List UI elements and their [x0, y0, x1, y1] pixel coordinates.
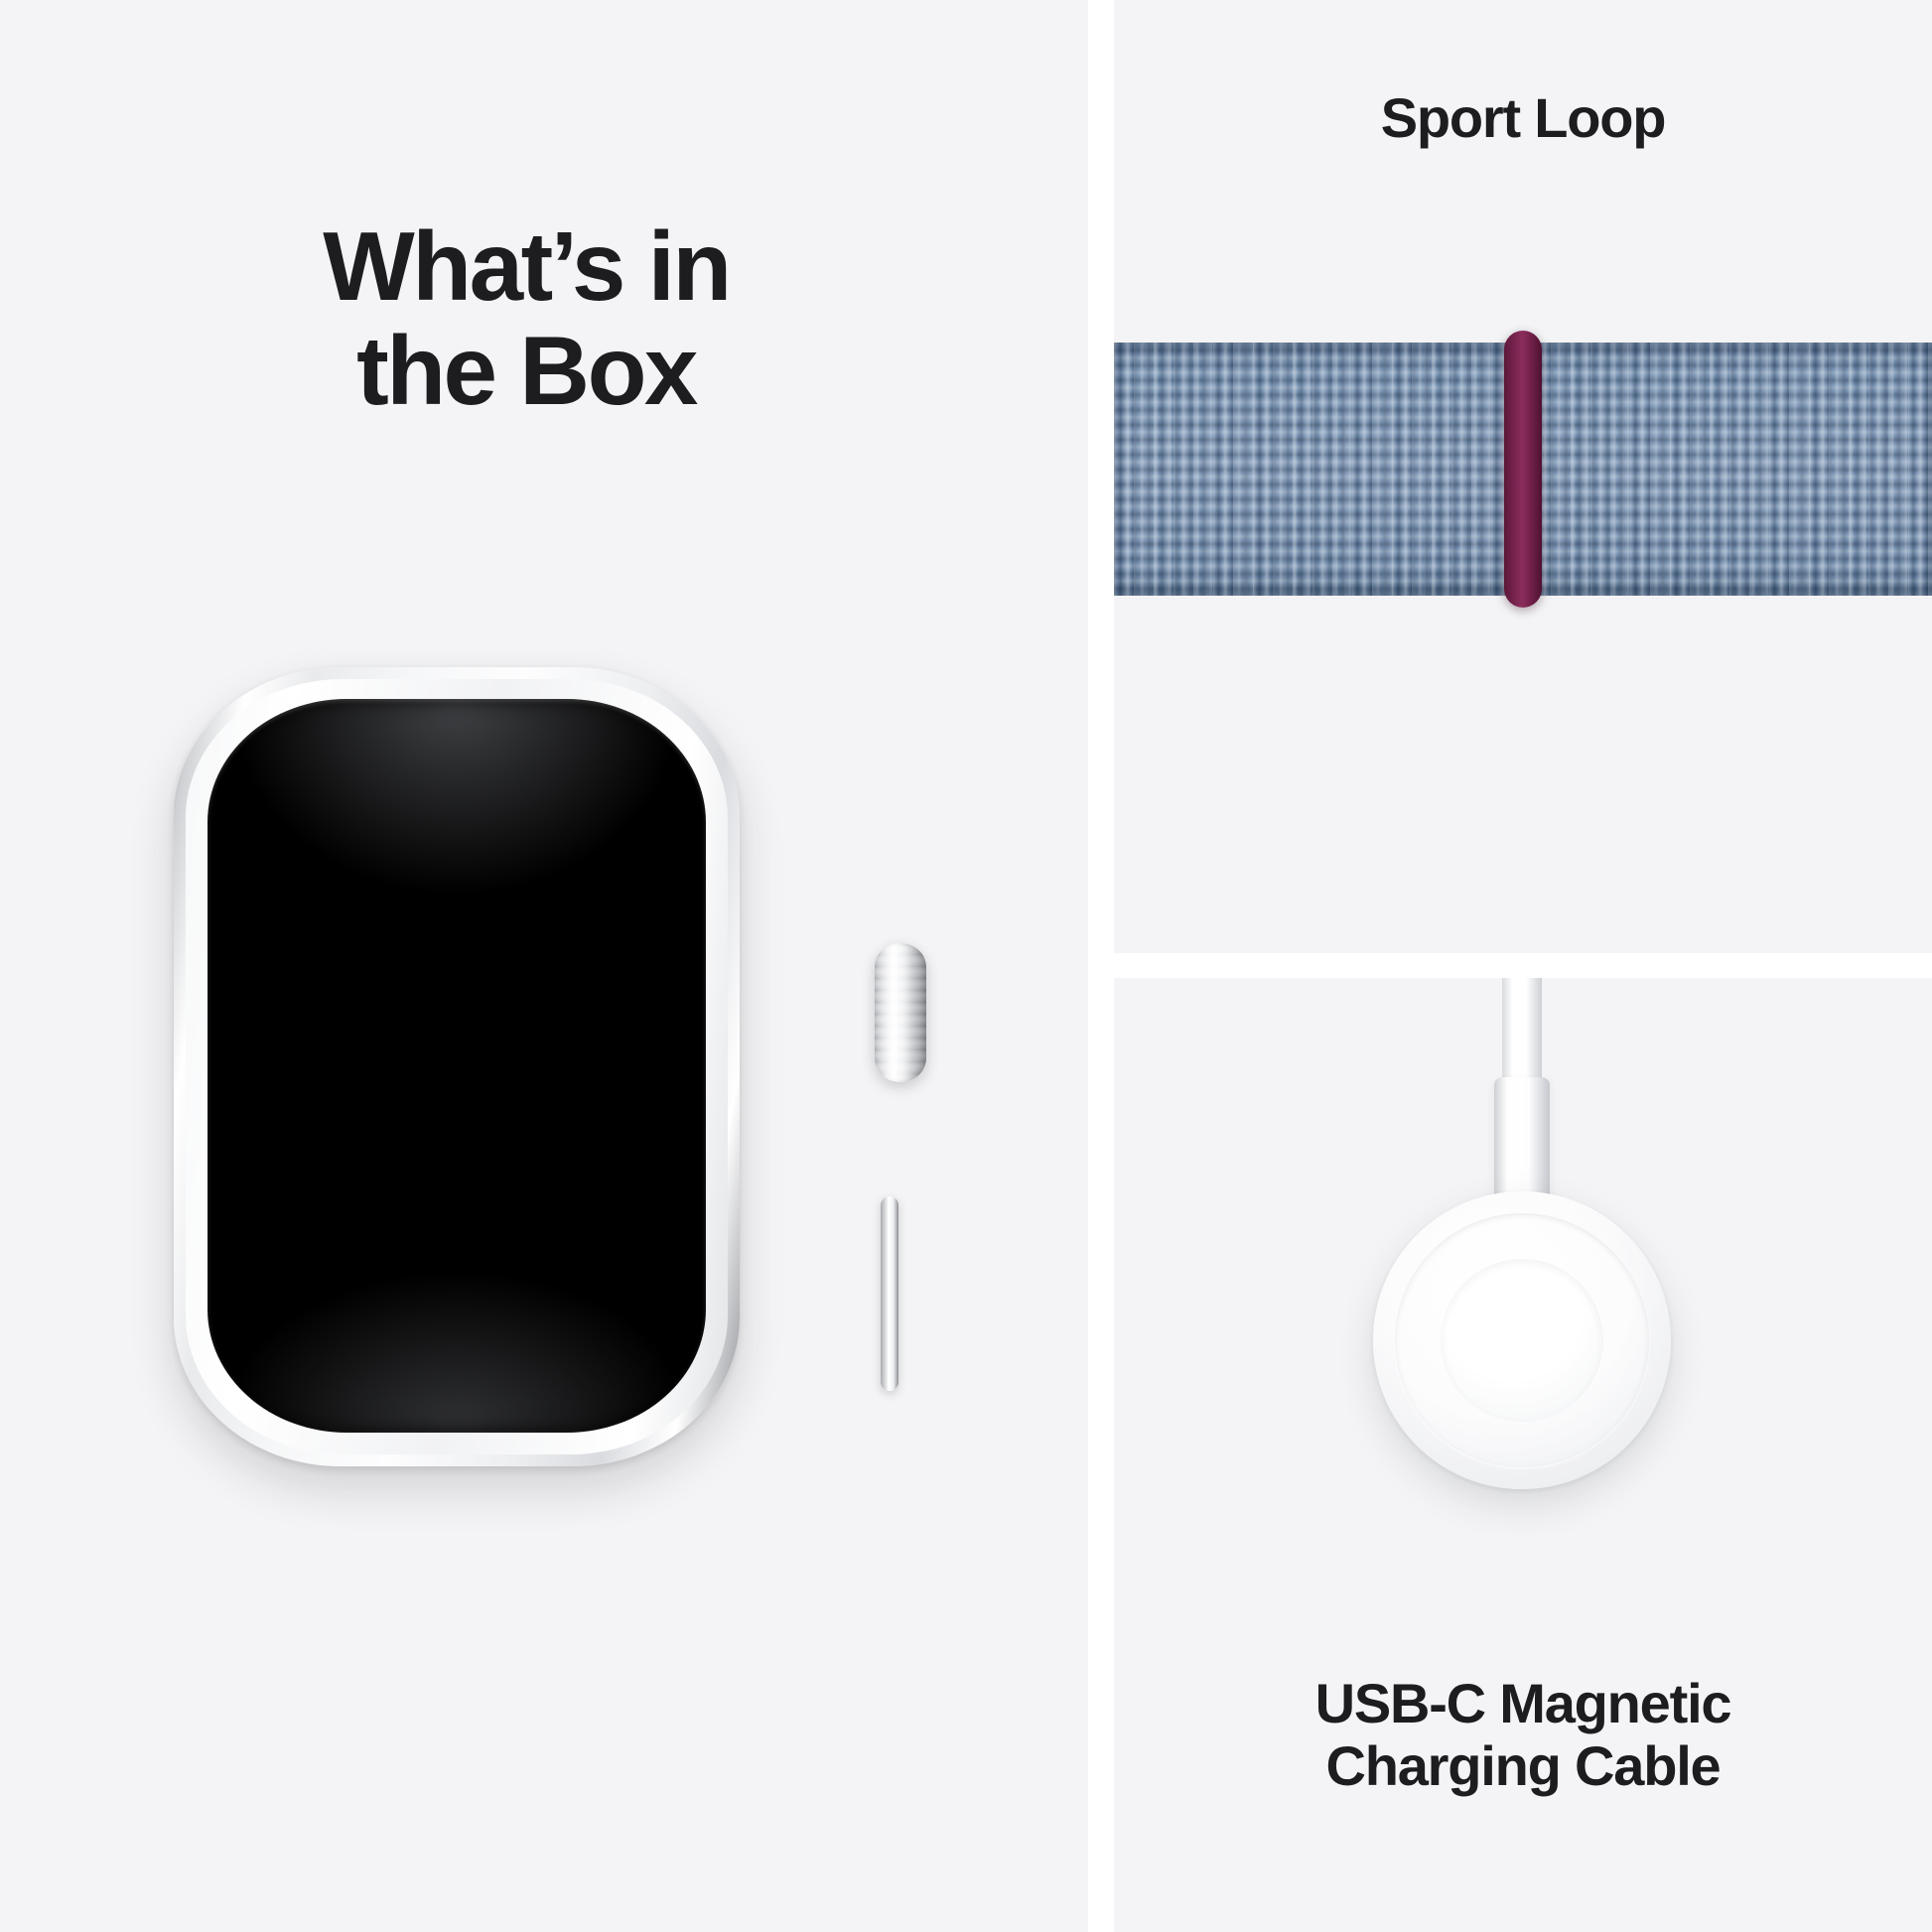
charging-cable-cord: [1502, 978, 1542, 1082]
page-title: What’s inthe Box: [149, 214, 903, 425]
page-title-line-2: the Box: [356, 316, 696, 425]
charging-puck-face: [1441, 1259, 1603, 1422]
charging-cable-label: USB-C MagneticCharging Cable: [1114, 1673, 1932, 1797]
panel-sport-loop: Sport Loop: [1114, 0, 1932, 953]
magnetic-charging-puck: [1373, 1191, 1671, 1489]
side-button-icon[interactable]: [881, 1196, 898, 1391]
charging-cable-strain-relief: [1494, 1077, 1550, 1206]
sport-loop-tab: [1504, 331, 1542, 608]
digital-crown-icon[interactable]: [875, 943, 926, 1082]
charging-cable-label-line-1: USB-C Magnetic: [1315, 1672, 1731, 1734]
charging-puck-ring: [1395, 1213, 1649, 1467]
digital-crown-highlight: [875, 943, 926, 1082]
page-title-line-1: What’s in: [323, 211, 729, 321]
panel-charging-cable: USB-C MagneticCharging Cable: [1114, 978, 1932, 1932]
product-gallery: What’s inthe Box Sport Loop: [0, 0, 1932, 1932]
panel-whats-in-the-box: What’s inthe Box: [0, 0, 1088, 1932]
watch-display: [207, 699, 706, 1433]
apple-watch-image: [174, 667, 740, 1466]
charging-cable-label-line-2: Charging Cable: [1325, 1734, 1720, 1797]
sport-loop-label: Sport Loop: [1114, 87, 1932, 150]
sport-loop-band-image: [1114, 343, 1932, 596]
